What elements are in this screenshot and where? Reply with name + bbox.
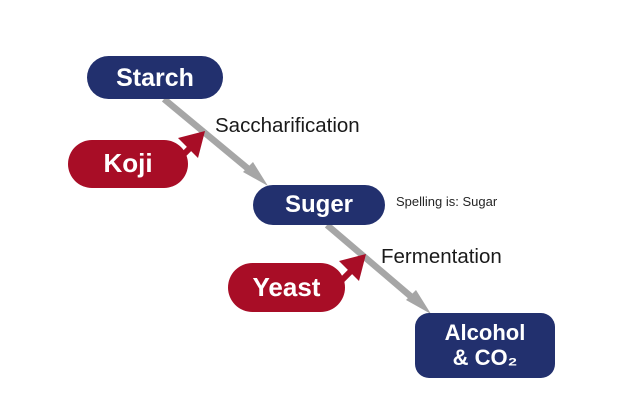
edge-label-fermentation: Fermentation — [381, 245, 502, 269]
edge-label-saccharification: Saccharification — [215, 114, 360, 138]
node-yeast[interactable]: Yeast — [228, 263, 345, 312]
node-yeast-label: Yeast — [253, 273, 321, 302]
spelling-note: Spelling is: Sugar — [396, 194, 497, 209]
node-koji[interactable]: Koji — [68, 140, 188, 188]
node-starch-label: Starch — [116, 64, 194, 92]
node-suger-label: Suger — [285, 192, 353, 219]
node-alcohol-co2-label: Alcohol & CO₂ — [445, 321, 526, 370]
node-alcohol-co2[interactable]: Alcohol & CO₂ — [415, 313, 555, 378]
node-koji-label: Koji — [103, 149, 152, 178]
process-diagram: Starch Koji Suger Yeast Alcohol & CO₂ Sa… — [0, 0, 630, 420]
node-starch[interactable]: Starch — [87, 56, 223, 99]
arrow-fermentation — [327, 225, 431, 314]
node-suger[interactable]: Suger — [253, 185, 385, 225]
